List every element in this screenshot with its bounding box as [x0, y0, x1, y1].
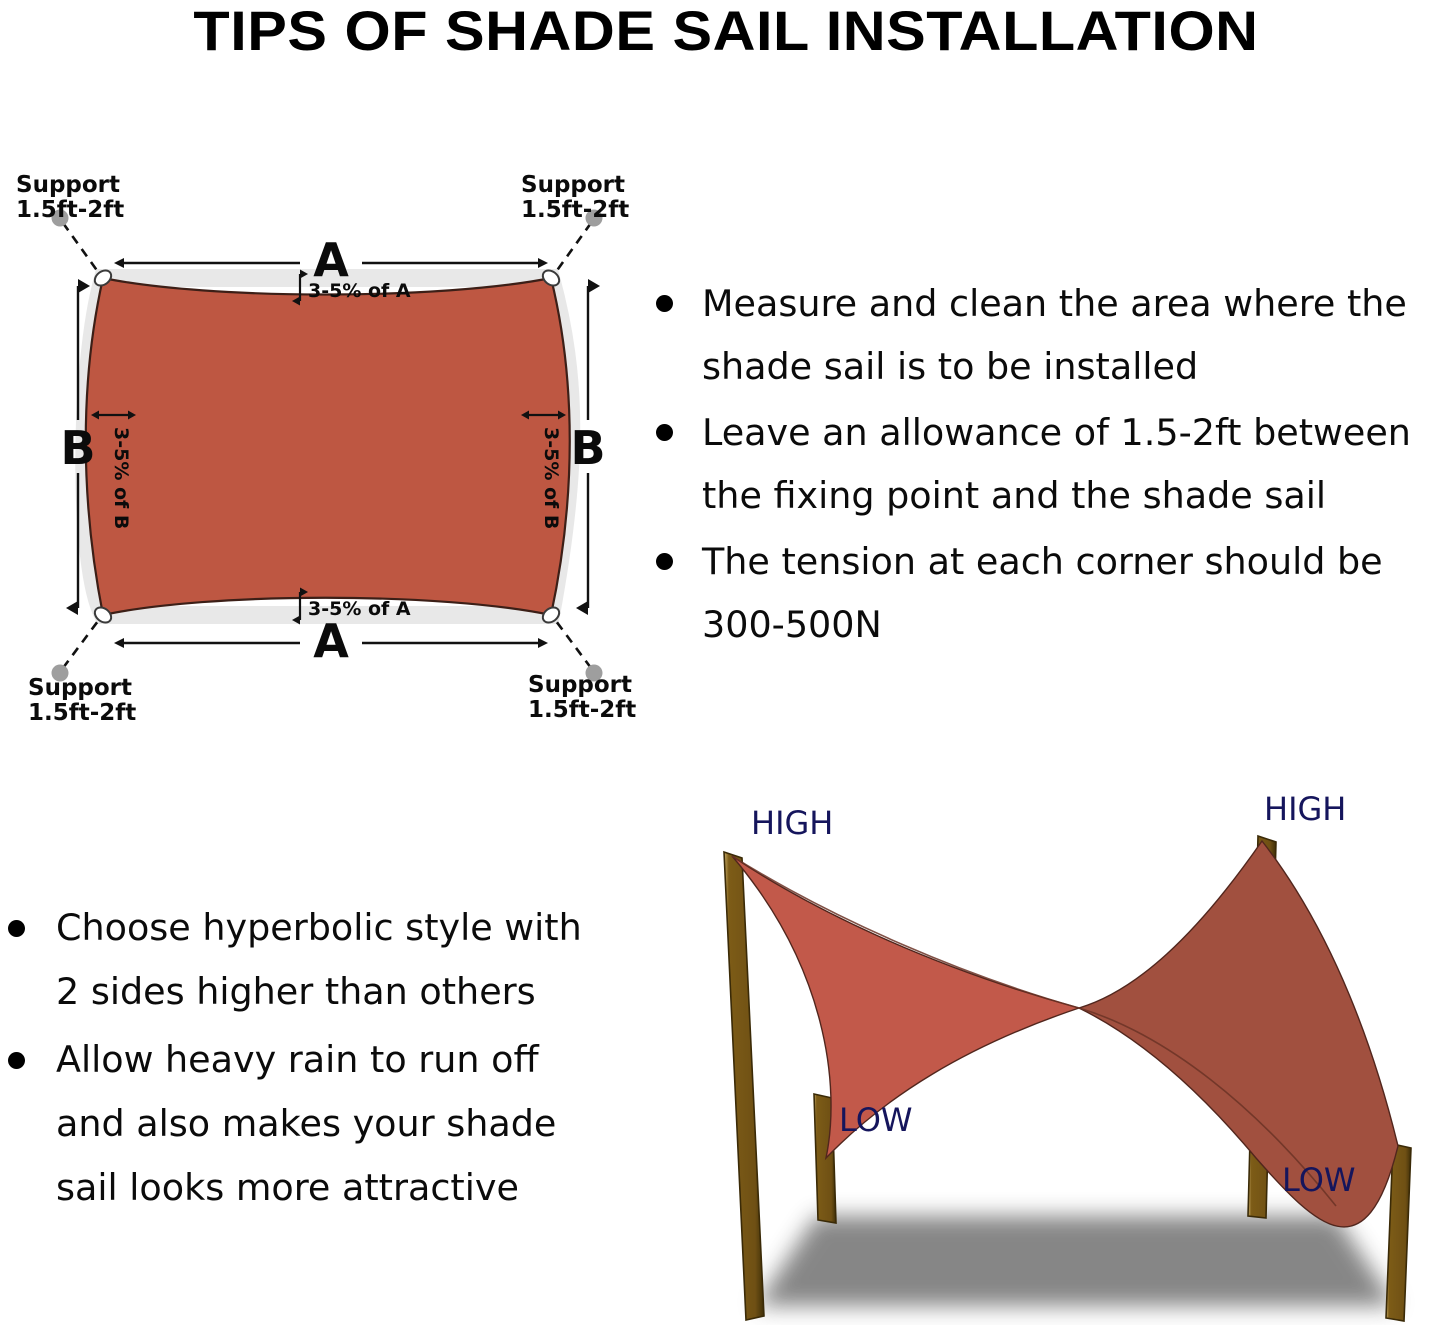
support-label-top-left-line2: 1.5ft-2ft [16, 197, 124, 223]
support-label-bottom-right-line1: Support [528, 672, 632, 698]
tip-text-line: Measure and clean the area where the [702, 282, 1407, 325]
support-label-top-right-line1: Support [521, 172, 625, 198]
bullet-dot-icon [656, 295, 673, 312]
tip-text-line: The tension at each corner should be [702, 540, 1383, 583]
dimension-label-b-right: B [570, 421, 605, 475]
hyperbolic-sail-diagram: HIGH HIGH LOW LOW [636, 786, 1452, 1325]
curvature-label-top: 3-5% of A [308, 280, 411, 302]
tip-text-line: the fixing point and the shade sail [702, 474, 1326, 517]
tip-text-line: shade sail is to be installed [702, 345, 1198, 388]
tip-text-line: Choose hyperbolic style with [56, 906, 582, 949]
bullet-dot-icon [8, 920, 25, 937]
support-line-top-left [63, 223, 101, 276]
corner-label-low-left: LOW [839, 1101, 913, 1139]
corner-label-high-right: HIGH [1264, 790, 1346, 828]
installation-tips-list: Measure and clean the area where the sha… [648, 272, 1452, 659]
post-rear-left [724, 852, 764, 1320]
curvature-label-right: 3-5% of B [540, 427, 562, 529]
support-line-bottom-right [553, 617, 591, 668]
list-item: The tension at each corner should be 300… [648, 530, 1452, 656]
tip-text-line: Leave an allowance of 1.5-2ft between [702, 411, 1411, 454]
bullet-dot-icon [656, 424, 673, 441]
support-line-bottom-left [63, 617, 101, 668]
corner-label-low-right: LOW [1282, 1161, 1356, 1199]
dimension-label-a-bottom: A [313, 614, 349, 668]
list-item: Choose hyperbolic style with 2 sides hig… [2, 896, 622, 1024]
shade-sail-shape [86, 278, 570, 615]
list-item: Allow heavy rain to run off and also mak… [2, 1028, 622, 1220]
infographic-page: TIPS OF SHADE SAIL INSTALLATION [0, 0, 1452, 1325]
bullet-dot-icon [656, 553, 673, 570]
dimension-label-b-left: B [60, 421, 95, 475]
bullet-dot-icon [8, 1052, 25, 1069]
dimension-label-a-top: A [313, 233, 349, 287]
curvature-label-left: 3-5% of B [110, 427, 132, 529]
rectangular-sail-diagram: Support 1.5ft-2ft Support 1.5ft-2ft Supp… [0, 168, 660, 738]
page-title: TIPS OF SHADE SAIL INSTALLATION [0, 2, 1452, 61]
support-label-top-right-line2: 1.5ft-2ft [521, 197, 629, 223]
tip-text-line: Allow heavy rain to run off [56, 1038, 539, 1081]
hyperbolic-tips-list: Choose hyperbolic style with 2 sides hig… [2, 896, 622, 1224]
list-item: Leave an allowance of 1.5-2ft between th… [648, 401, 1452, 527]
curvature-label-bottom: 3-5% of A [308, 598, 411, 620]
support-label-bottom-left-line2: 1.5ft-2ft [28, 700, 136, 726]
tip-text-line: and also makes your shade [56, 1102, 556, 1145]
tip-text-line: 300-500N [702, 603, 882, 646]
list-item: Measure and clean the area where the sha… [648, 272, 1452, 398]
support-label-top-left-line1: Support [16, 172, 120, 198]
support-label-bottom-left-line1: Support [28, 675, 132, 701]
corner-label-high-left: HIGH [751, 804, 833, 842]
tip-text-line: 2 sides higher than others [56, 970, 536, 1013]
ground-shadow [756, 1216, 1396, 1306]
tip-text-line: sail looks more attractive [56, 1166, 519, 1209]
support-label-bottom-right-line2: 1.5ft-2ft [528, 697, 636, 723]
support-line-top-right [553, 223, 591, 276]
